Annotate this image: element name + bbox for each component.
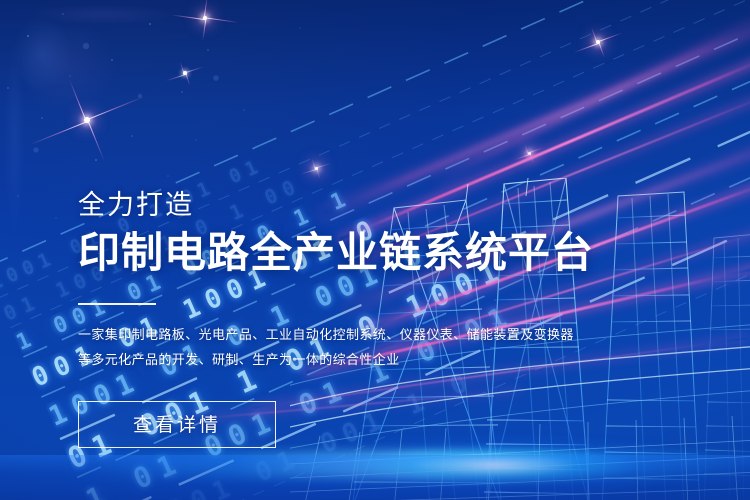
hero-banner: 1001 01 0 1001 01 01 1001 01 0 1 00 1 00… (0, 0, 750, 500)
eyebrow-text: 全力打造 (78, 192, 598, 219)
hero-content: 全力打造 印制电路全产业链系统平台 一家集印制电路板、光电产品、工业自动化控制系… (78, 192, 598, 448)
description-line-2: 等多元化产品的开发、研制、生产为一体的综合性企业 (78, 347, 578, 372)
description-line-1: 一家集印制电路板、光电产品、工业自动化控制系统、仪器仪表、储能装置及变换器 (78, 322, 578, 347)
page-title: 印制电路全产业链系统平台 (78, 230, 598, 275)
divider-rule (78, 303, 156, 305)
view-details-button[interactable]: 查看详情 (78, 401, 276, 448)
description-text: 一家集印制电路板、光电产品、工业自动化控制系统、仪器仪表、储能装置及变换器 等多… (78, 322, 578, 372)
